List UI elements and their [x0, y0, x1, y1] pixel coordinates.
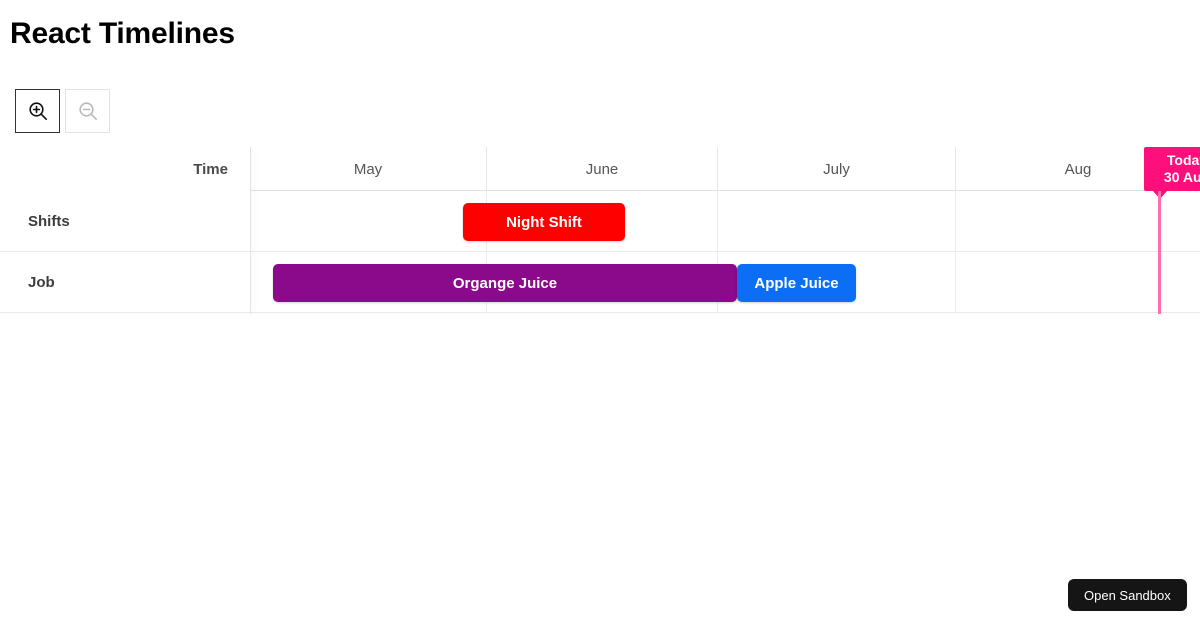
timeline-row: JobOrgange JuiceApple Juice	[0, 252, 1200, 313]
timeline-column-header: July	[717, 147, 955, 191]
timeline-sidebar-header: Time	[0, 147, 250, 191]
zoom-in-button[interactable]	[15, 89, 60, 133]
timeline: Time MayJuneJulyAug ShiftsNight ShiftJob…	[0, 147, 1200, 314]
page-title: React Timelines	[10, 16, 235, 52]
zoom-in-icon	[27, 100, 49, 122]
open-sandbox-button[interactable]: Open Sandbox	[1068, 579, 1187, 611]
timeline-header: Time MayJuneJulyAug	[0, 147, 1200, 191]
timeline-task-bar[interactable]: Night Shift	[463, 203, 625, 241]
timeline-task-bar[interactable]: Apple Juice	[737, 264, 856, 302]
timeline-row-label[interactable]: Job	[0, 252, 250, 312]
zoom-controls	[15, 89, 110, 133]
timeline-column-divider	[955, 191, 956, 251]
timeline-column-header: June	[486, 147, 717, 191]
zoom-out-button[interactable]	[65, 89, 110, 133]
timeline-month-header: MayJuneJulyAug	[250, 147, 1200, 191]
timeline-row-track: Night Shift	[250, 191, 1200, 251]
timeline-column-header: May	[250, 147, 486, 191]
timeline-row-label[interactable]: Shifts	[0, 191, 250, 251]
timeline-column-header: Aug	[955, 147, 1200, 191]
timeline-column-divider	[955, 252, 956, 312]
timeline-sidebar-divider[interactable]	[250, 147, 251, 314]
timeline-task-bar[interactable]: Organge Juice	[273, 264, 737, 302]
app-root: React Timelines	[0, 0, 1200, 630]
timeline-row-track: Organge JuiceApple Juice	[250, 252, 1200, 312]
timeline-row: ShiftsNight Shift	[0, 191, 1200, 252]
timeline-body: ShiftsNight ShiftJobOrgange JuiceApple J…	[0, 191, 1200, 314]
zoom-out-icon	[77, 100, 99, 122]
timeline-column-divider	[717, 191, 718, 251]
